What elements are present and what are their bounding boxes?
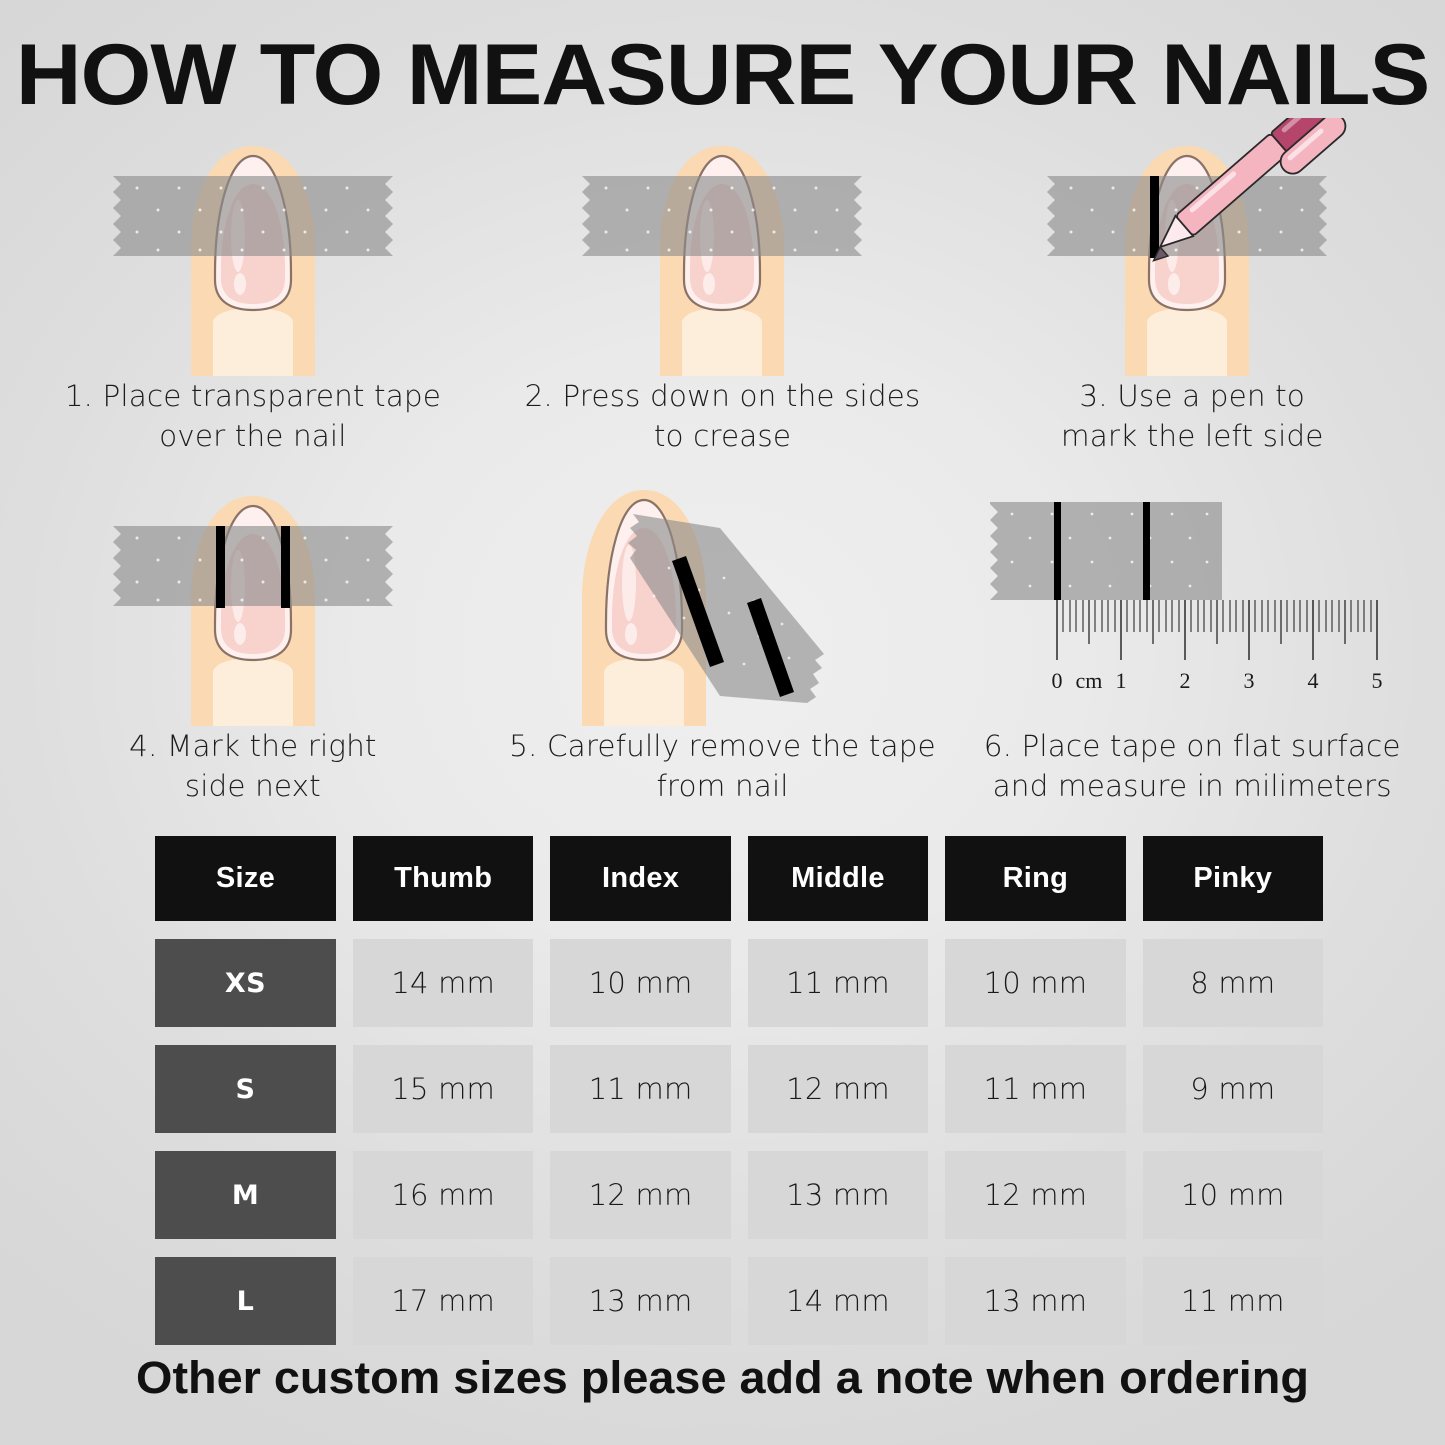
- ruler-ticks: [1057, 600, 1377, 660]
- table-header-size: Size: [155, 836, 336, 921]
- table-header-pinky: Pinky: [1143, 836, 1323, 921]
- cell-l-ring: 13 mm: [945, 1257, 1125, 1345]
- table-row: L 17 mm 13 mm 14 mm 13 mm 11 mm: [155, 1257, 1323, 1345]
- finger-tape-creased-icon: [572, 118, 872, 376]
- step-4-caption: 4. Mark the right side next: [18, 726, 488, 806]
- size-label-s: S: [155, 1045, 336, 1133]
- table-header-ring: Ring: [945, 836, 1125, 921]
- table-row: M 16 mm 12 mm 13 mm 12 mm 10 mm: [155, 1151, 1323, 1239]
- finger-tape-pen-icon: [1027, 118, 1357, 376]
- cell-m-index: 12 mm: [550, 1151, 730, 1239]
- page-title: HOW TO MEASURE YOUR NAILS: [0, 26, 1445, 125]
- step-5-caption: 5. Carefully remove the tape from nail: [488, 726, 958, 806]
- cell-m-middle: 13 mm: [748, 1151, 928, 1239]
- cell-m-pinky: 10 mm: [1143, 1151, 1323, 1239]
- table-header-middle: Middle: [748, 836, 928, 921]
- ruler-label-0: 0: [1052, 668, 1063, 693]
- step-2: 2. Press down on the sides to crease: [488, 118, 958, 468]
- step-3-caption: 3. Use a pen to mark the left side: [957, 376, 1427, 456]
- finger-with-tape-icon: [103, 118, 403, 376]
- step-2-caption: 2. Press down on the sides to crease: [488, 376, 958, 456]
- mark-right: [1143, 502, 1150, 600]
- ruler-label-4: 4: [1308, 668, 1319, 693]
- size-chart-table: Size Thumb Index Middle Ring Pinky XS 14…: [155, 836, 1323, 1363]
- cell-s-middle: 12 mm: [748, 1045, 928, 1133]
- cell-m-ring: 12 mm: [945, 1151, 1125, 1239]
- table-row: XS 14 mm 10 mm 11 mm 10 mm 8 mm: [155, 939, 1323, 1027]
- size-label-l: L: [155, 1257, 336, 1345]
- cell-xs-pinky: 8 mm: [1143, 939, 1323, 1027]
- finger-tape-two-marks-icon: [103, 468, 403, 726]
- step-5-illustration: [488, 468, 958, 726]
- table-header-index: Index: [550, 836, 730, 921]
- size-label-m: M: [155, 1151, 336, 1239]
- step-5: 5. Carefully remove the tape from nail: [488, 468, 958, 818]
- table-row: S 15 mm 11 mm 12 mm 11 mm 9 mm: [155, 1045, 1323, 1133]
- cell-l-pinky: 11 mm: [1143, 1257, 1323, 1345]
- step-2-illustration: [488, 118, 958, 376]
- cell-l-index: 13 mm: [550, 1257, 730, 1345]
- cell-s-index: 11 mm: [550, 1045, 730, 1133]
- step-1-illustration: [18, 118, 488, 376]
- infographic-root: HOW TO MEASURE YOUR NAILS: [0, 0, 1445, 1445]
- ruler-label-2: 2: [1180, 668, 1191, 693]
- step-3-illustration: [957, 118, 1427, 376]
- cell-l-middle: 14 mm: [748, 1257, 928, 1345]
- step-6: 0 cm 1 2 3 4 5 6. Place tape on flat sur…: [957, 468, 1427, 818]
- ruler-label-5: 5: [1372, 668, 1383, 693]
- table-header-thumb: Thumb: [353, 836, 533, 921]
- cell-s-ring: 11 mm: [945, 1045, 1125, 1133]
- left-mark: [1150, 176, 1159, 258]
- step-4: 4. Mark the right side next: [18, 468, 488, 818]
- right-mark: [281, 526, 290, 608]
- cell-xs-index: 10 mm: [550, 939, 730, 1027]
- step-3: 3. Use a pen to mark the left side: [957, 118, 1427, 468]
- cell-m-thumb: 16 mm: [353, 1151, 533, 1239]
- mark-left: [1054, 502, 1061, 600]
- steps-grid: 1. Place transparent tape over the nail: [18, 118, 1427, 818]
- ruler-label-3: 3: [1244, 668, 1255, 693]
- ruler-label-cm: cm: [1076, 668, 1103, 693]
- size-label-xs: XS: [155, 939, 336, 1027]
- footer-note: Other custom sizes please add a note whe…: [0, 1352, 1445, 1404]
- cell-s-thumb: 15 mm: [353, 1045, 533, 1133]
- cell-xs-thumb: 14 mm: [353, 939, 533, 1027]
- ruler-label-1: 1: [1116, 668, 1127, 693]
- step-1: 1. Place transparent tape over the nail: [18, 118, 488, 468]
- cell-s-pinky: 9 mm: [1143, 1045, 1323, 1133]
- cell-l-thumb: 17 mm: [353, 1257, 533, 1345]
- left-mark: [216, 526, 225, 608]
- table-header-row: Size Thumb Index Middle Ring Pinky: [155, 836, 1323, 921]
- step-1-caption: 1. Place transparent tape over the nail: [18, 376, 488, 456]
- cell-xs-ring: 10 mm: [945, 939, 1125, 1027]
- cell-xs-middle: 11 mm: [748, 939, 928, 1027]
- finger-tape-peeled-icon: [524, 468, 864, 726]
- step-4-illustration: [18, 468, 488, 726]
- tape-on-ruler-icon: 0 cm 1 2 3 4 5: [982, 492, 1402, 712]
- step-6-caption: 6. Place tape on flat surface and measur…: [957, 726, 1427, 806]
- step-6-illustration: 0 cm 1 2 3 4 5: [957, 468, 1427, 726]
